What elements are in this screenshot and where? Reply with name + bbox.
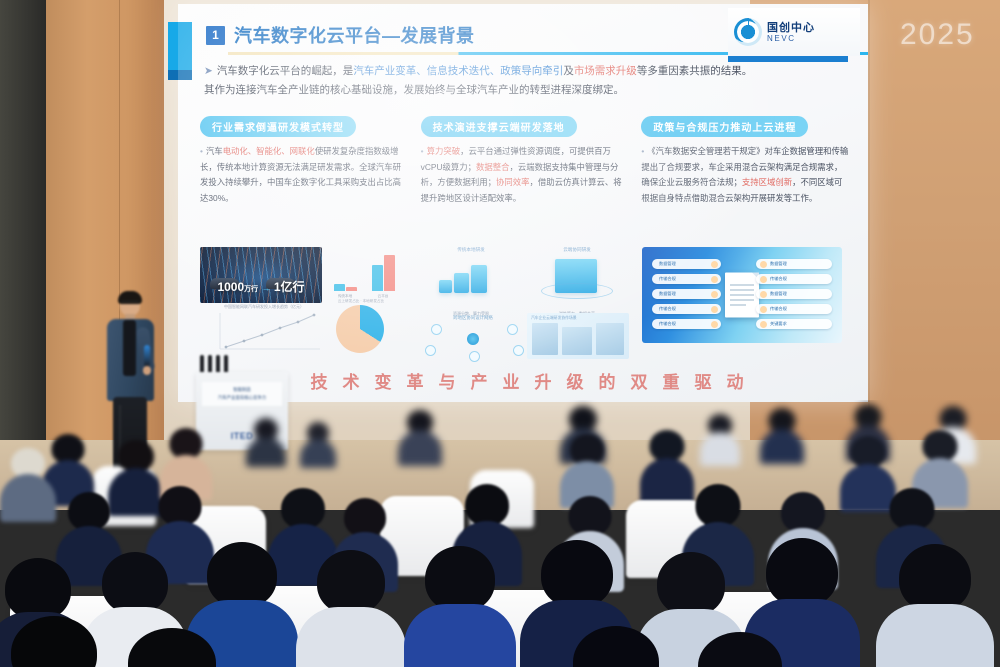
wall-year-2025: 2025 (900, 18, 975, 52)
pill-label: 数据管理 (770, 291, 787, 297)
network-node (431, 324, 442, 335)
slide-bottom-banner: 技 术 变 革 与 产 业 升 级 的 双 重 驱 动 (198, 366, 858, 394)
audience-person-foreground (556, 626, 676, 667)
photo-thumb (562, 327, 592, 355)
slide-columns: 行业需求倒逼研发模式转型 •汽车电动化、智能化、网联化使研发复杂度指数级增长，传… (200, 116, 850, 206)
banner-char-3: 革 (407, 368, 426, 393)
bullet-icon: • (200, 146, 203, 156)
c2-hl2: 数据整合 (476, 162, 510, 172)
pill-right-4: 传输合规 (756, 304, 832, 314)
audience-person (300, 422, 336, 466)
c2-hl1: 算力突破 (427, 146, 461, 156)
pill-left-4: 传输合规 (652, 304, 721, 314)
column-3-body: •《汽车数据安全管理若干规定》对车企数据管理和传输提出了合规要求，车企采用混合云… (641, 144, 850, 206)
bullet-icon: • (641, 146, 644, 156)
pill-label: 传输合规 (770, 306, 787, 312)
panel2-left-title: 传统本地研发 (421, 247, 521, 253)
bar-a1 (334, 284, 345, 291)
banner-char-9: 的 (599, 368, 618, 393)
lock-icon (760, 261, 767, 268)
banner-char-0: 技 (311, 368, 330, 393)
orbit-ring-icon (541, 283, 613, 299)
presenter-hand (143, 366, 151, 375)
pie-chart (336, 305, 384, 353)
photo-thumb (596, 323, 624, 355)
slide-title-row: 1 汽车数字化云平台—发展背景 (206, 22, 475, 48)
bar-b2 (384, 255, 395, 291)
cube-medium (454, 273, 469, 293)
line-chart: 中国智能网联汽车研发投入增长趋势（亿元） (204, 311, 324, 357)
pill-label: 数据管理 (659, 261, 676, 267)
banner-char-5: 产 (471, 368, 490, 393)
panel2-photo-title: 汽车企业云端研发协作场景 (531, 316, 577, 321)
network-node (469, 351, 480, 362)
bar-a2 (372, 265, 383, 291)
lock-icon (760, 291, 767, 298)
network-diagram: 跨地区协同设计网络 (423, 315, 523, 359)
c1-hl: 电动化、智能化、网联化 (223, 146, 315, 156)
column-3-header: 政策与合规压力推动上云进程 (641, 116, 808, 137)
network-node (507, 324, 518, 335)
pill-label: 传输合规 (659, 321, 676, 327)
projected-slide: 1 汽车数字化云平台—发展背景 ➤汽车数字化云平台的崛起，是汽车产业变革、信息技… (178, 4, 868, 402)
pill-left-1: 数据管理 (652, 259, 721, 269)
iso-cloud-card: 云端协同研发 弹性算力、数据共享 (527, 247, 627, 305)
lock-icon (711, 306, 718, 313)
audience-person (246, 418, 286, 464)
logo-cn-name: 国创中心 (767, 22, 815, 34)
lead-c: 等多重因素共振的结果。 (637, 65, 753, 77)
pie-chart-legend: 云上研发占比 · 本地研发占比 (324, 299, 398, 304)
photo-thumb (532, 323, 558, 355)
microphone-icon (144, 345, 150, 367)
audience-person (404, 546, 516, 667)
bullet-icon: • (421, 146, 424, 156)
banner-char-10: 双 (631, 368, 650, 393)
pill-right-5: 关键要求 (756, 319, 832, 329)
network-node (425, 345, 436, 356)
pill-label: 关键要求 (770, 321, 787, 327)
audience-person-foreground (680, 632, 800, 667)
audience-person (760, 408, 804, 462)
globe-logo-icon (734, 18, 762, 46)
lead-a: 汽车数字化云平台的崛起，是 (217, 65, 354, 77)
network-center-node (467, 333, 479, 345)
column-1: 行业需求倒逼研发模式转型 •汽车电动化、智能化、网联化使研发复杂度指数级增长，传… (200, 116, 409, 206)
arrow-icon: → (262, 283, 271, 293)
pill-label: 传输合规 (659, 276, 676, 282)
audience-person (0, 448, 56, 520)
banner-char-11: 重 (663, 368, 682, 393)
pill-left-3: 数据管理 (652, 289, 721, 299)
column-2: 技术演进支撑云端研发落地 •算力突破，云平台通过弹性资源调度，可提供百万vCPU… (421, 116, 630, 206)
audience-person (876, 544, 994, 667)
c1-a: 汽车 (206, 146, 223, 156)
lead-hl2: 市场需求升级 (574, 65, 637, 77)
c2-hl3: 协同效率 (496, 177, 530, 187)
event-logo: 国创中心 NEVC (728, 8, 860, 56)
document-icon (725, 273, 759, 318)
slide-left-accent-icon (168, 22, 192, 70)
hero-caption: 1000万行 → 1亿行 (200, 278, 322, 295)
audience-person-foreground (0, 616, 114, 667)
pie-legend-1: 云上研发占比 (338, 299, 360, 303)
pill-label: 传输合规 (770, 276, 787, 282)
podium-sign-line1: 智能制造 (233, 387, 251, 393)
audience-person (296, 550, 406, 667)
iso-traditional-card: 传统本地研发 资源分散、算力受限 (421, 247, 521, 305)
audience-person (398, 410, 442, 464)
panel-1-graphics: 1000万行 → 1亿行 中国智能网联汽车研发投入增长趋势（亿元） (200, 247, 409, 359)
hero-right-number: 1亿行 (274, 280, 305, 294)
banner-char-2: 变 (375, 368, 394, 393)
lock-icon (760, 276, 767, 283)
presenter-shirt (123, 320, 136, 376)
slide-number-badge: 1 (206, 26, 225, 45)
panel-3-graphics: 数据管理 传输合规 数据管理 传输合规 传输合规 数据管理 传输合规 数据管理 … (642, 247, 851, 359)
bar-b1 (346, 287, 357, 291)
banner-char-13: 动 (727, 368, 746, 393)
panel-2-graphics: 传统本地研发 资源分散、算力受限 云端协同研发 弹性算力、数据共享 跨地区协同设… (421, 247, 630, 359)
bar-chart: 传统本地 云平台 (328, 249, 408, 299)
network-node (513, 345, 524, 356)
conference-photo: 2025 1 汽车数字化云平台—发展背景 ➤汽车数字化云平台的崛起，是汽车产业变… (0, 0, 1000, 667)
logo-en-name: NEVC (767, 34, 815, 43)
lock-icon (711, 261, 718, 268)
line-chart-caption: 中国智能网联汽车研发投入增长趋势（亿元） (204, 304, 324, 310)
lock-icon (711, 276, 718, 283)
pill-right-3: 数据管理 (756, 289, 832, 299)
slide-lead-paragraph: ➤汽车数字化云平台的崛起，是汽车产业变革、信息技术迭代、政策导向牵引及市场需求升… (204, 62, 844, 100)
slide-title: 汽车数字化云平台—发展背景 (234, 22, 475, 48)
lead-b: 及 (563, 65, 574, 77)
lock-icon (760, 306, 767, 313)
pill-left-2: 传输合规 (652, 274, 721, 284)
lead-line2: 其作为连接汽车全产业链的核心基础设施，发展始终与全球汽车产业的转型进程深度绑定。 (204, 84, 624, 96)
column-3: 政策与合规压力推动上云进程 •《汽车数据安全管理若干规定》对车企数据管理和传输提… (641, 116, 850, 206)
collaboration-photo-card: 汽车企业云端研发协作场景 (527, 313, 629, 359)
pill-left-5: 传输合规 (652, 319, 721, 329)
banner-char-12: 驱 (695, 368, 714, 393)
pill-label: 数据管理 (770, 261, 787, 267)
slide-left-accent-2-icon (168, 70, 192, 80)
document-compliance-panel: 数据管理 传输合规 数据管理 传输合规 传输合规 数据管理 传输合规 数据管理 … (642, 247, 842, 343)
cube-large (471, 265, 487, 293)
hero-left-number: 1000 (217, 280, 244, 294)
bullet-icon: ➤ (204, 65, 213, 77)
pill-label: 数据管理 (659, 291, 676, 297)
pill-right-2: 传输合规 (756, 274, 832, 284)
logo-underbar (728, 56, 848, 62)
banner-char-6: 业 (503, 368, 522, 393)
pill-label: 传输合规 (659, 306, 676, 312)
line-chart-svg (204, 311, 324, 355)
network-title: 跨地区协同设计网络 (423, 315, 523, 321)
column-2-header: 技术演进支撑云端研发落地 (421, 116, 577, 137)
banner-char-8: 级 (567, 368, 586, 393)
column-1-header: 行业需求倒逼研发模式转型 (200, 116, 356, 137)
lock-icon (711, 321, 718, 328)
c3-hl: 支持区域创新 (742, 177, 792, 187)
audience: ITED 国际智能装备与技术展 (0, 400, 1000, 667)
banner-char-7: 升 (535, 368, 554, 393)
banner-char-1: 术 (343, 368, 362, 393)
hero-left-unit: 万行 (244, 286, 258, 293)
glasses-icon (121, 301, 139, 306)
lock-icon (760, 321, 767, 328)
hero-speed-image: 1000万行 → 1亿行 (200, 247, 322, 303)
audience-person (700, 414, 740, 464)
pill-right-1: 数据管理 (756, 259, 832, 269)
lead-hl1: 汽车产业变革、信息技术迭代、政策导向牵引 (353, 65, 563, 77)
column-2-body: •算力突破，云平台通过弹性资源调度，可提供百万vCPU级算力；数据整合，云端数据… (421, 144, 630, 206)
pie-legend-2: 本地研发占比 (363, 299, 385, 303)
banner-char-4: 与 (439, 368, 458, 393)
audience-person-foreground (112, 628, 232, 667)
column-1-body: •汽车电动化、智能化、网联化使研发复杂度指数级增长，传统本地计算资源无法满足研发… (200, 144, 409, 206)
cube-small (439, 280, 452, 293)
panel2-right-title: 云端协同研发 (527, 247, 627, 253)
lock-icon (711, 291, 718, 298)
